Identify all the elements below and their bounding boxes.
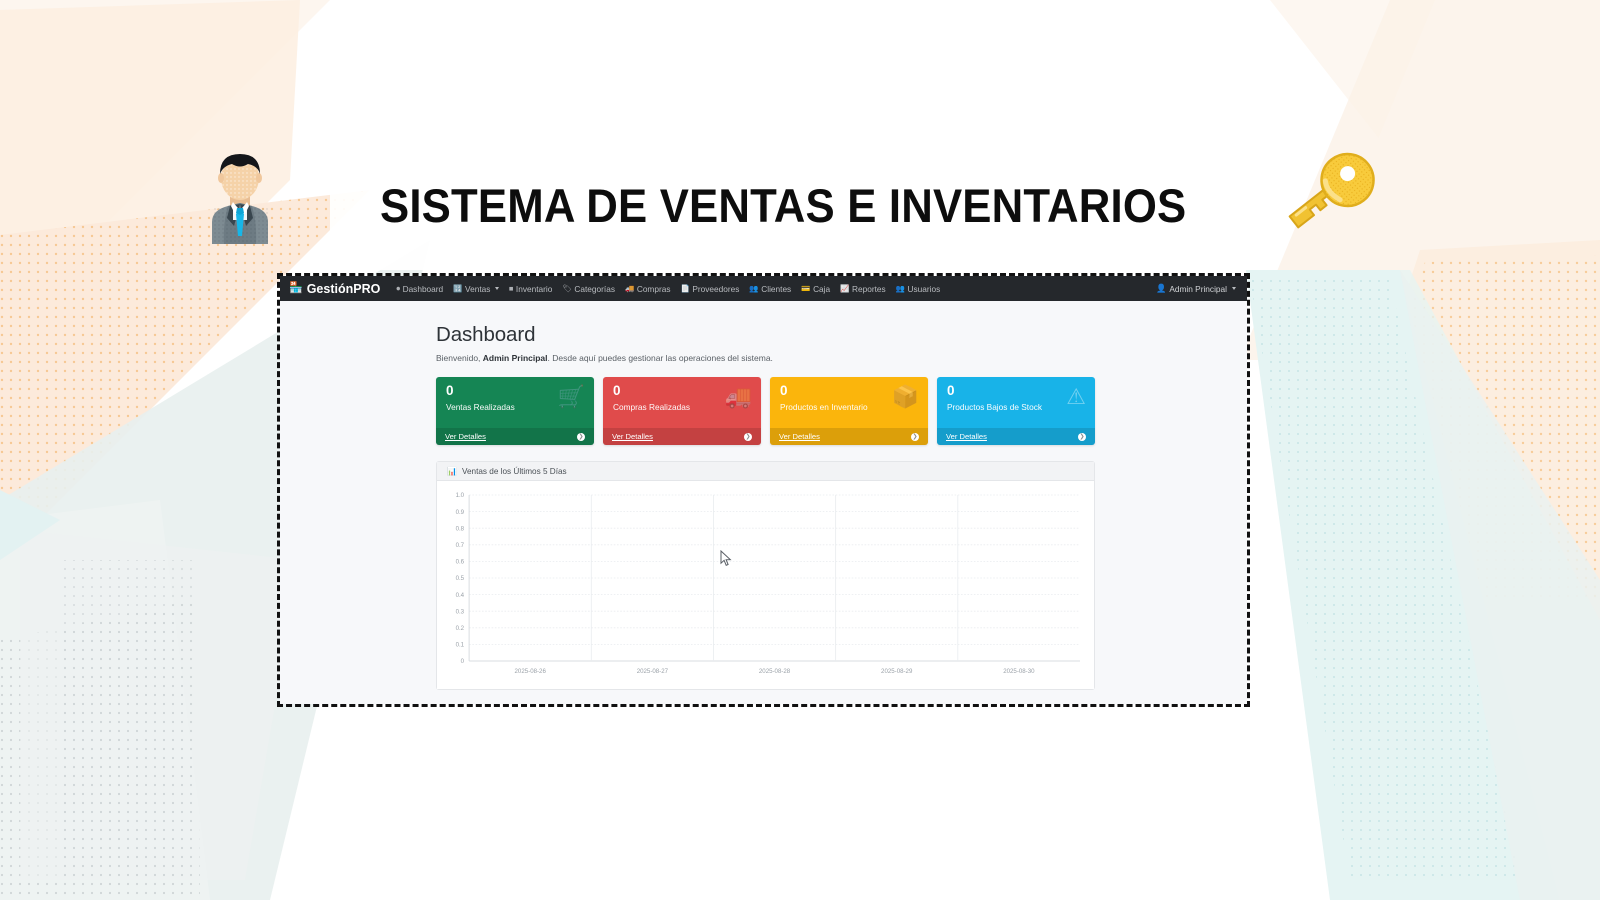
- mouse-pointer-icon: [720, 550, 732, 567]
- nav-label: Compras: [637, 284, 671, 294]
- nav-item-ventas[interactable]: 🔢 Ventas: [448, 284, 504, 294]
- top-navbar: 🏪 GestiónPRO ⏺ Dashboard 🔢 Ventas ■ Inve…: [280, 276, 1247, 301]
- nav-label: Categorías: [574, 284, 615, 294]
- chart-canvas: 1.00.90.80.70.60.50.40.30.20.102025-08-2…: [443, 489, 1086, 685]
- nav-label: Ventas: [465, 284, 490, 294]
- nav-item-dashboard[interactable]: ⏺ Dashboard: [391, 284, 448, 294]
- stat-card-compras[interactable]: 0 Compras Realizadas 🚚 Ver Detalles ❯: [603, 377, 761, 445]
- user-menu[interactable]: 👤 Admin Principal: [1156, 283, 1238, 294]
- sales-chart-panel: 📊 Ventas de los Últimos 5 Días 1.00.90.8…: [436, 461, 1095, 690]
- welcome-text: Bienvenido, Admin Principal. Desde aquí …: [436, 353, 1095, 363]
- card-link-label: Ver Detalles: [779, 432, 820, 441]
- tags-icon: 🏷: [562, 284, 572, 293]
- nav-label: Proveedores: [692, 284, 739, 294]
- stat-label: Productos en Inventario: [780, 402, 918, 412]
- card-link-label: Ver Detalles: [445, 432, 486, 441]
- stat-card-ventas[interactable]: 0 Ventas Realizadas 🛒 Ver Detalles ❯: [436, 377, 594, 445]
- brand-logo[interactable]: 🏪 GestiónPRO: [289, 282, 380, 296]
- svg-text:0.6: 0.6: [456, 559, 465, 566]
- card-body: 0 Productos Bajos de Stock: [937, 377, 1095, 412]
- card-link-label: Ver Detalles: [612, 432, 653, 441]
- hero-banner: SISTEMA DE VENTAS E INVENTARIOS: [0, 0, 1600, 278]
- nav-label: Usuarios: [908, 284, 941, 294]
- card-body: 0 Ventas Realizadas: [436, 377, 594, 412]
- boxes-icon: ■: [509, 284, 514, 293]
- card-body: 0 Productos en Inventario: [770, 377, 928, 412]
- svg-text:0.2: 0.2: [456, 625, 465, 632]
- svg-text:0: 0: [461, 658, 465, 665]
- svg-text:0.9: 0.9: [456, 509, 465, 516]
- svg-text:0.1: 0.1: [456, 642, 465, 649]
- stat-cards: 0 Ventas Realizadas 🛒 Ver Detalles ❯ 0 C…: [436, 377, 1095, 445]
- svg-text:0.5: 0.5: [456, 575, 465, 582]
- card-body: 0 Compras Realizadas: [603, 377, 761, 412]
- cash-register-icon: 🔢: [453, 284, 462, 293]
- stat-card-bajo-stock[interactable]: 0 Productos Bajos de Stock ⚠ Ver Detalle…: [937, 377, 1095, 445]
- brand-label: GestiónPRO: [307, 282, 381, 296]
- stat-card-inventario[interactable]: 0 Productos en Inventario 📦 Ver Detalles…: [770, 377, 928, 445]
- nav-item-categorias[interactable]: 🏷 Categorías: [557, 284, 620, 294]
- store-icon: 🏪: [289, 283, 303, 294]
- app-window: 🏪 GestiónPRO ⏺ Dashboard 🔢 Ventas ■ Inve…: [280, 276, 1247, 704]
- nav-item-compras[interactable]: 🚚 Compras: [620, 284, 676, 294]
- nav-label: Inventario: [516, 284, 552, 294]
- nav-item-proveedores[interactable]: 📄 Proveedores: [676, 284, 745, 294]
- chart-line-icon: 📈: [840, 284, 849, 293]
- nav-item-usuarios[interactable]: 👥 Usuarios: [891, 284, 946, 294]
- chevron-down-icon: [495, 287, 499, 290]
- nav-label: Caja: [813, 284, 830, 294]
- card-link-inventario[interactable]: Ver Detalles ❯: [770, 428, 928, 445]
- card-link-ventas[interactable]: Ver Detalles ❯: [436, 428, 594, 445]
- svg-text:2025-08-27: 2025-08-27: [637, 668, 669, 675]
- svg-text:0.7: 0.7: [456, 542, 465, 549]
- stat-label: Compras Realizadas: [613, 402, 751, 412]
- cash-drawer-icon: 💳: [801, 284, 810, 293]
- svg-text:2025-08-30: 2025-08-30: [1003, 668, 1035, 675]
- sales-chart[interactable]: 1.00.90.80.70.60.50.40.30.20.102025-08-2…: [443, 489, 1086, 685]
- svg-text:0.4: 0.4: [456, 592, 465, 599]
- bar-chart-icon: 📊: [447, 467, 457, 476]
- nav-label: Clientes: [761, 284, 791, 294]
- panel-body: 1.00.90.80.70.60.50.40.30.20.102025-08-2…: [437, 481, 1094, 689]
- nav-item-reportes[interactable]: 📈 Reportes: [835, 284, 891, 294]
- svg-text:1.0: 1.0: [456, 492, 465, 499]
- page-title: Dashboard: [436, 323, 1095, 347]
- svg-text:2025-08-28: 2025-08-28: [759, 668, 791, 675]
- card-link-bajo-stock[interactable]: Ver Detalles ❯: [937, 428, 1095, 445]
- page-content: Dashboard Bienvenido, Admin Principal. D…: [280, 301, 1247, 704]
- chevron-right-circle-icon: ❯: [577, 433, 585, 441]
- id-card-icon: 📄: [681, 284, 690, 293]
- nav-label: Reportes: [852, 284, 886, 294]
- stat-value: 0: [947, 384, 1085, 399]
- user-group-icon: 👥: [896, 284, 905, 293]
- card-link-compras[interactable]: Ver Detalles ❯: [603, 428, 761, 445]
- welcome-user: Admin Principal: [483, 353, 548, 363]
- nav-item-clientes[interactable]: 👥 Clientes: [744, 284, 796, 294]
- welcome-suffix: . Desde aquí puedes gestionar las operac…: [548, 353, 773, 363]
- chevron-right-circle-icon: ❯: [744, 433, 752, 441]
- nav-item-caja[interactable]: 💳 Caja: [796, 284, 835, 294]
- chevron-right-circle-icon: ❯: [1078, 433, 1086, 441]
- users-icon: 👥: [749, 284, 758, 293]
- chevron-down-icon: [1232, 287, 1236, 290]
- nav-item-inventario[interactable]: ■ Inventario: [504, 284, 557, 294]
- key-icon: [1272, 142, 1384, 246]
- stat-value: 0: [780, 384, 918, 399]
- nav-label: Dashboard: [403, 284, 444, 294]
- truck-icon: 🚚: [625, 284, 634, 293]
- card-link-label: Ver Detalles: [946, 432, 987, 441]
- page-hero-title: SISTEMA DE VENTAS E INVENTARIOS: [380, 178, 1186, 233]
- svg-text:2025-08-26: 2025-08-26: [515, 668, 547, 675]
- tachometer-icon: ⏺: [396, 284, 400, 294]
- stat-value: 0: [446, 384, 584, 399]
- panel-title: Ventas de los Últimos 5 Días: [462, 467, 567, 476]
- svg-text:0.8: 0.8: [456, 525, 465, 532]
- businessman-avatar-icon: [190, 140, 290, 244]
- stat-label: Productos Bajos de Stock: [947, 402, 1085, 412]
- svg-text:2025-08-29: 2025-08-29: [881, 668, 913, 675]
- chevron-right-circle-icon: ❯: [911, 433, 919, 441]
- panel-header: 📊 Ventas de los Últimos 5 Días: [437, 462, 1094, 481]
- nav-links: ⏺ Dashboard 🔢 Ventas ■ Inventario 🏷 Cate…: [391, 284, 1156, 294]
- user-icon: 👤: [1156, 283, 1166, 294]
- user-menu-label: Admin Principal: [1169, 284, 1227, 294]
- stat-value: 0: [613, 384, 751, 399]
- welcome-prefix: Bienvenido,: [436, 353, 483, 363]
- svg-text:0.3: 0.3: [456, 608, 465, 615]
- stat-label: Ventas Realizadas: [446, 402, 584, 412]
